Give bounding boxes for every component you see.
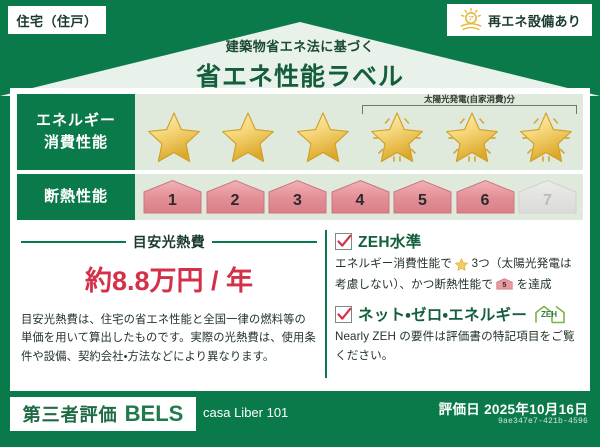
zeh-standard-body-part1: エネルギー消費性能で — [335, 257, 452, 270]
bels-badge-jp-label: 第三者評価 — [23, 401, 118, 427]
row-energy-label-line1: エネルギー — [36, 110, 116, 132]
insulation-level-3: 3 — [268, 179, 327, 215]
header-title-group: 建築物省エネ法に基づく 省エネ性能ラベル — [0, 36, 600, 93]
row-energy-performance: エネルギー 消費性能 太陽光発電(自家消費)分 — [17, 94, 583, 170]
evaluation-date-label: 評価日 — [439, 402, 480, 417]
star-6-solar — [515, 109, 577, 165]
net-zero-energy-checkbox[interactable] — [335, 306, 352, 323]
badge-dwelling-type-label: 住宅（住戸） — [16, 11, 97, 30]
zeh-standard-body: エネルギー消費性能で 3つ（太陽光発電は考慮しない）、かつ断熱性能で 5 を達成 — [335, 255, 577, 295]
insulation-level-scale: 1 2 3 — [143, 179, 577, 215]
row-energy-value: 太陽光発電(自家消費)分 — [135, 94, 583, 170]
card-lower-section: 目安光熱費 約8.8万円 / 年 目安光熱費は、住宅の省エネ性能と全国一律の燃料… — [17, 228, 583, 384]
evaluation-id: 9ae347e7-421b-4596 — [498, 417, 588, 426]
header-title: 省エネ性能ラベル — [0, 57, 600, 93]
row-insulation-label: 断熱性能 — [17, 174, 135, 220]
utility-cost-heading-label: 目安光熱費 — [133, 232, 206, 252]
evaluation-date-value: 2025年10月16日 — [484, 402, 588, 417]
insulation-level-7-label: 7 — [518, 192, 577, 210]
bels-badge: 第三者評価 BELS — [10, 397, 196, 431]
utility-cost-note: 目安光熱費は、住宅の省エネ性能と全国一律の燃料等の単価を用いて算出したものです。… — [21, 311, 317, 366]
building-name: casa Liber 101 — [203, 405, 288, 420]
net-zero-energy-title: ネット・ゼロ・エネルギー — [358, 303, 527, 325]
zeh-standard-title: ZEH水準 — [358, 230, 422, 252]
net-zero-energy-block: ネット・ゼロ・エネルギー ZEH Nearly ZEH の要件は評価書の特記項目… — [335, 303, 577, 365]
insulation-level-4-label: 4 — [331, 192, 390, 210]
row-insulation-label-text: 断熱性能 — [44, 186, 108, 208]
sun-icon: ア — [458, 7, 484, 33]
zeh-standard-block: ZEH水準 エネルギー消費性能で 3つ（太陽光発電は考慮しない）、かつ断熱性能で… — [335, 230, 577, 295]
header-subtitle: 建築物省エネ法に基づく — [0, 36, 600, 55]
insulation-level-3-label: 3 — [268, 192, 327, 210]
svg-text:ZEH: ZEH — [541, 310, 557, 319]
star-2 — [217, 109, 279, 165]
net-zero-energy-header: ネット・ゼロ・エネルギー ZEH — [335, 303, 577, 325]
zeh-standard-header: ZEH水準 — [335, 230, 577, 252]
net-zero-energy-body: Nearly ZEH の要件は評価書の特記項目をご覧ください。 — [335, 328, 577, 365]
zeh-house-logo: ZEH — [533, 305, 571, 324]
row-insulation-value: 1 2 3 — [135, 174, 583, 220]
badge-renewable-equipment: ア 再エネ設備あり — [447, 4, 592, 36]
row-energy-label-line2: 消費性能 — [44, 132, 108, 154]
insulation-level-4: 4 — [331, 179, 390, 215]
house-level-5-icon: 5 — [493, 279, 517, 292]
insulation-level-6-label: 6 — [456, 192, 515, 210]
row-insulation-performance: 断熱性能 — [17, 174, 583, 220]
star-rating — [143, 108, 577, 166]
zeh-standard-body-part3: を達成 — [517, 278, 552, 291]
insulation-level-2-label: 2 — [206, 192, 265, 210]
insulation-level-7: 7 — [518, 179, 577, 215]
badge-renewable-equipment-label: 再エネ設備あり — [488, 11, 581, 30]
energy-label-root: 建築物省エネ法に基づく 省エネ性能ラベル 住宅（住戸） ア 再エネ設備あり — [0, 0, 600, 447]
insulation-level-5: 5 — [393, 179, 452, 215]
star-5-solar — [441, 109, 503, 165]
utility-cost-heading: 目安光熱費 — [21, 232, 317, 252]
label-card: エネルギー 消費性能 太陽光発電(自家消費)分 — [10, 88, 590, 391]
footer-bar: 第三者評価 BELS casa Liber 101 評価日 2025年10月16… — [0, 391, 600, 447]
vertical-divider — [325, 230, 327, 378]
svg-text:5: 5 — [503, 280, 507, 289]
star-3 — [292, 109, 354, 165]
insulation-level-2: 2 — [206, 179, 265, 215]
insulation-level-1: 1 — [143, 179, 202, 215]
star-4-solar — [366, 109, 428, 165]
evaluation-date: 評価日 2025年10月16日 — [439, 398, 588, 418]
star-1 — [143, 109, 205, 165]
row-energy-label: エネルギー 消費性能 — [17, 94, 135, 170]
utility-cost-value: 約8.8万円 / 年 — [21, 259, 317, 298]
solar-bracket-caption: 太陽光発電(自家消費)分 — [362, 93, 577, 105]
zeh-panel: ZEH水準 エネルギー消費性能で 3つ（太陽光発電は考慮しない）、かつ断熱性能で… — [333, 228, 583, 384]
heading-rule-left — [21, 241, 126, 243]
utility-cost-panel: 目安光熱費 約8.8万円 / 年 目安光熱費は、住宅の省エネ性能と全国一律の燃料… — [17, 228, 323, 384]
star-icon-inline — [452, 259, 472, 272]
badge-dwelling-type: 住宅（住戸） — [8, 6, 106, 34]
heading-rule-right — [212, 241, 317, 243]
zeh-standard-checkbox[interactable] — [335, 233, 352, 250]
insulation-level-1-label: 1 — [143, 192, 202, 210]
insulation-level-5-label: 5 — [393, 192, 452, 210]
insulation-level-6: 6 — [456, 179, 515, 215]
svg-text:ア: ア — [468, 16, 474, 23]
bels-badge-en-label: BELS — [125, 401, 184, 427]
